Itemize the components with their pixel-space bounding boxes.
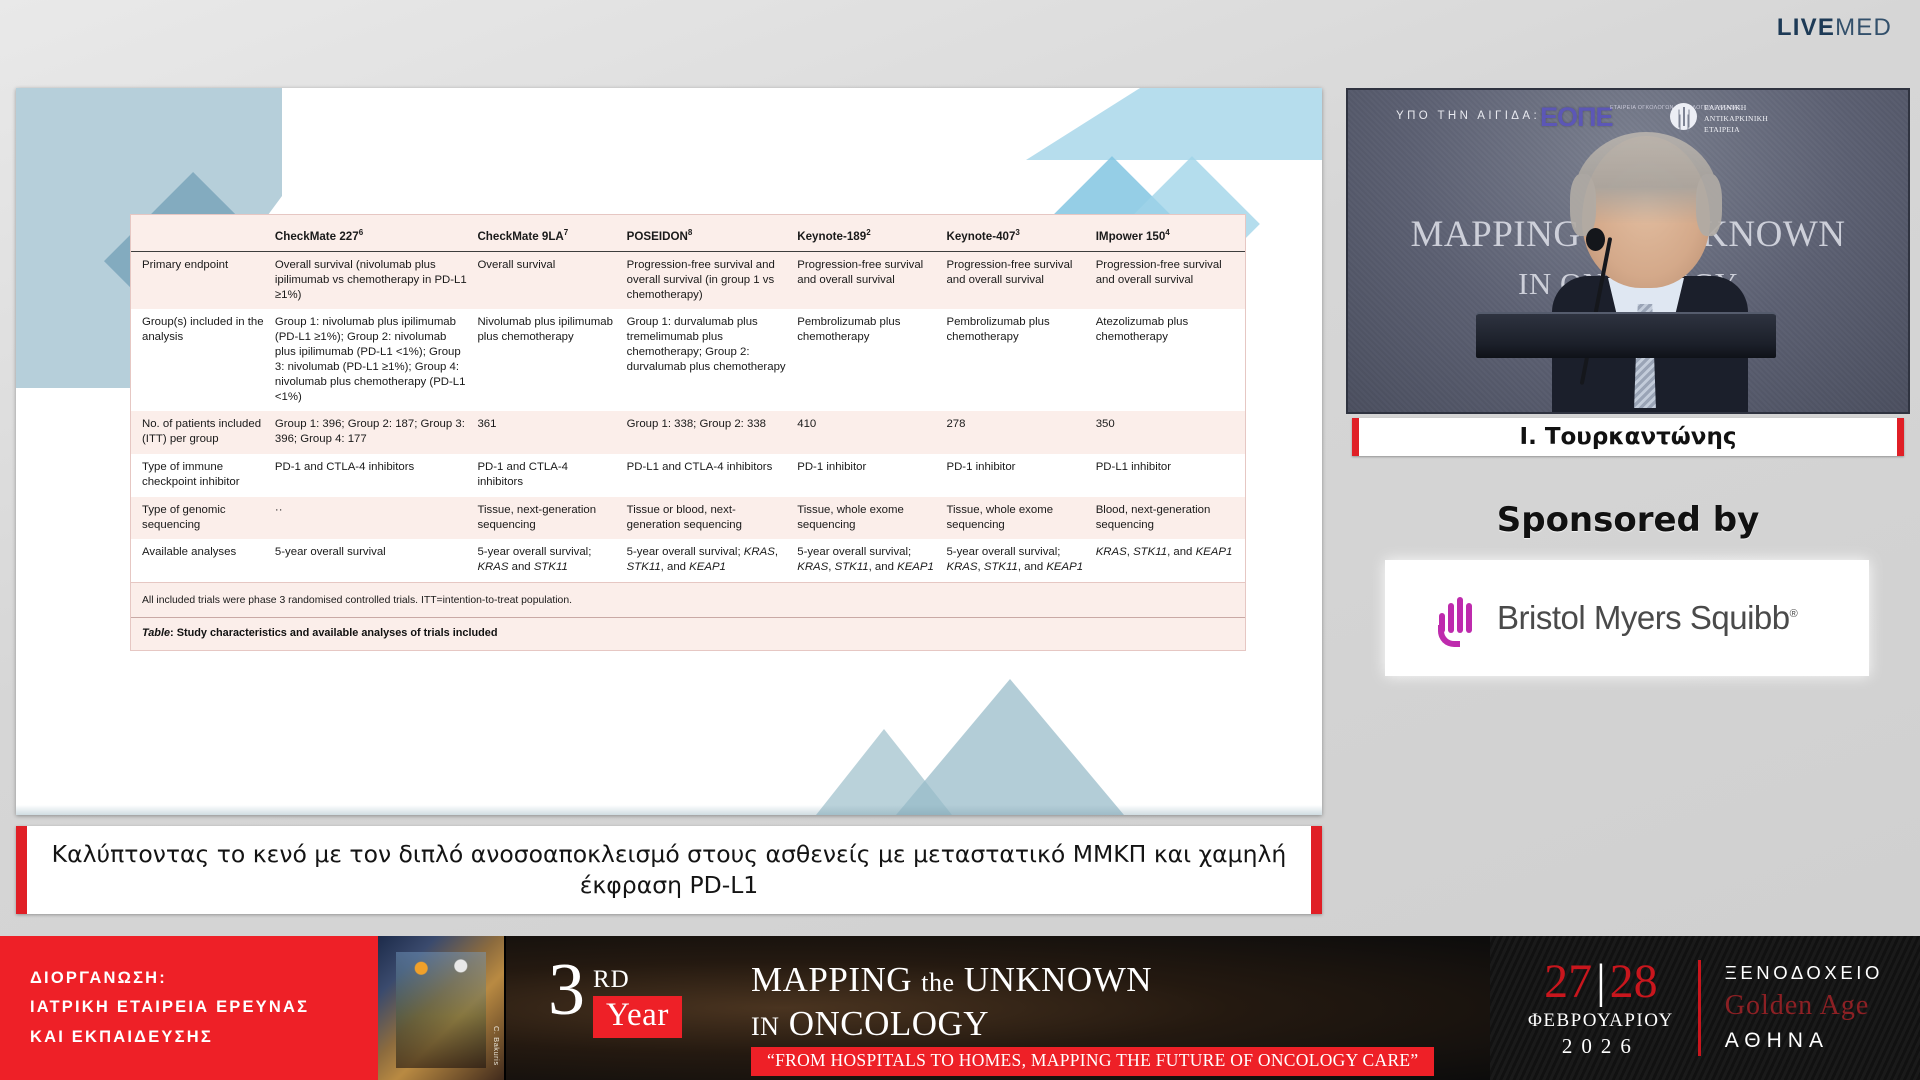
cell: PD-1 and CTLA-4 inhibitors <box>275 454 478 497</box>
title-seg-c: UNKNOWN <box>955 960 1152 999</box>
edition-block: 3 RD Year <box>548 956 682 1038</box>
trademark-symbol: ® <box>1790 608 1798 620</box>
cell: Pembrolizumab plus chemotherapy <box>797 309 946 411</box>
speaker-figure <box>1534 136 1764 414</box>
cell: 5-year overall survival; KRAS, STK11, an… <box>797 539 946 582</box>
row-label: Type of genomic sequencing <box>131 497 275 540</box>
tree-seal-icon <box>1670 103 1697 130</box>
caption-text: Καλύπτοντας το κενό με τον διπλό ανοσοαπ… <box>45 839 1293 901</box>
cell: PD-1 inhibitor <box>797 454 946 497</box>
cell: 5-year overall survival; KRAS, STK11, an… <box>627 539 798 582</box>
cell: Tissue, next-generation sequencing <box>477 497 626 540</box>
cell: Pembrolizumab plus chemotherapy <box>946 309 1095 411</box>
title-seg-b: the <box>921 968 954 997</box>
cell: PD-1 and CTLA-4 inhibitors <box>477 454 626 497</box>
cell: PD-L1 inhibitor <box>1096 454 1245 497</box>
decorative-mountain-large <box>896 679 1124 815</box>
edition-ordinal: RD <box>593 966 682 994</box>
table-caption-text: : Study characteristics and available an… <box>170 627 497 639</box>
study-characteristics-table: CheckMate 2276 CheckMate 9LA7 POSEIDON8 … <box>130 214 1246 651</box>
event-main-title: MAPPING the UNKNOWN IN ONCOLOGY <box>751 960 1152 1044</box>
day-to: 28 <box>1610 955 1658 1008</box>
speaker-nameplate: Ι. Τουρκαντώνης <box>1352 418 1904 456</box>
caption-line-1: Καλύπτοντας το κενό με τον διπλό ανοσοαπ… <box>52 840 1147 868</box>
row-label: Type of immune checkpoint inhibitor <box>131 454 275 497</box>
cell: ·· <box>275 497 478 540</box>
hellenic-line-1: ΕΛΛΗΝΙΚΗ <box>1704 103 1768 114</box>
edition-ordinal-wrap: RD Year <box>593 966 682 1038</box>
cell: 350 <box>1096 411 1245 454</box>
speaker-hair <box>1574 132 1718 224</box>
decorative-bottom-fade <box>16 805 1322 815</box>
row-label: Primary endpoint <box>131 251 275 309</box>
ref-sup: 2 <box>866 228 870 237</box>
row-label: Group(s) included in the analysis <box>131 309 275 411</box>
ref-sup: 6 <box>359 228 363 237</box>
event-date-venue-block: 27|28 ΦΕΒΡΟΥΑΡΙΟΥ 2026 ΞΕΝΟΔΟΧΕΙΟ Golden… <box>1490 936 1920 1080</box>
venue-name: Golden Age <box>1725 986 1883 1026</box>
livemed-logo-primary: LIVE <box>1777 14 1835 41</box>
event-day-range: 27|28 <box>1528 958 1674 1006</box>
table-header-keynote-407: Keynote-4073 <box>946 215 1095 251</box>
table-row: Available analyses 5-year overall surviv… <box>131 539 1245 582</box>
cell: 5-year overall survival; KRAS and STK11 <box>477 539 626 582</box>
organizer-line-2: ΙΑΤΡΙΚΗ ΕΤΑΙΡΕΙΑ ΕΡΕΥΝΑΣ <box>30 993 378 1022</box>
cell: Nivolumab plus ipilimumab plus chemother… <box>477 309 626 411</box>
event-title-line-1: MAPPING the UNKNOWN <box>751 960 1152 1000</box>
table-row: Type of genomic sequencing ·· Tissue, ne… <box>131 497 1245 540</box>
cell: Group 1: durvalumab plus tremelimumab pl… <box>627 309 798 411</box>
cell: Blood, next-generation sequencing <box>1096 497 1245 540</box>
laptop-screen <box>1476 312 1776 358</box>
cell: 361 <box>477 411 626 454</box>
table-caption: Table: Study characteristics and availab… <box>131 617 1245 650</box>
event-month: ΦΕΒΡΟΥΑΡΙΟΥ <box>1528 1010 1674 1032</box>
bms-palm-shape <box>1438 625 1460 647</box>
table-header-checkmate-9la: CheckMate 9LA7 <box>477 215 626 251</box>
table-element: CheckMate 2276 CheckMate 9LA7 POSEIDON8 … <box>131 215 1245 582</box>
table-row: Group(s) included in the analysis Group … <box>131 309 1245 411</box>
slide-title-caption: Καλύπτοντας το κενό με τον διπλό ανοσοαπ… <box>16 826 1322 914</box>
cell: Progression-free survival and overall su… <box>1096 251 1245 309</box>
cell: Group 1: nivolumab plus ipilimumab (PD-L… <box>275 309 478 411</box>
event-title-block: 3 RD Year MAPPING the UNKNOWN IN ONCOLOG… <box>506 936 1490 1080</box>
decorative-mountain-small <box>816 729 952 815</box>
cell: PD-1 inhibitor <box>946 454 1095 497</box>
cell: Progression-free survival and overall su… <box>627 251 798 309</box>
cell: Overall survival <box>477 251 626 309</box>
cell: 410 <box>797 411 946 454</box>
cell: Progression-free survival and overall su… <box>946 251 1095 309</box>
sponsor-name: Bristol Myers Squibb <box>1497 599 1790 636</box>
event-title-line-2: IN ONCOLOGY <box>751 1004 1152 1044</box>
cell: Atezolizumab plus chemotherapy <box>1096 309 1245 411</box>
presentation-slide[interactable]: CheckMate 2276 CheckMate 9LA7 POSEIDON8 … <box>16 88 1322 815</box>
artwork-credit: C. Bakuris <box>492 1026 501 1066</box>
ref-sup: 3 <box>1015 228 1019 237</box>
livemed-logo: LIVEMED <box>1777 14 1892 42</box>
table-head: CheckMate 2276 CheckMate 9LA7 POSEIDON8 … <box>131 215 1245 251</box>
cell: PD-L1 and CTLA-4 inhibitors <box>627 454 798 497</box>
table-body: Primary endpoint Overall survival (nivol… <box>131 251 1245 582</box>
ref-sup: 8 <box>688 228 692 237</box>
hellenic-line-2: ΑΝΤΙΚΑΡΚΙΝΙΚΗ <box>1704 114 1768 125</box>
event-tagline: “FROM HOSPITALS TO HOMES, MAPPING THE FU… <box>751 1047 1434 1076</box>
cell: Group 1: 338; Group 2: 338 <box>627 411 798 454</box>
venue-city: ΑΘΗΝΑ <box>1725 1026 1883 1056</box>
row-label: No. of patients included (ITT) per group <box>131 411 275 454</box>
ref-sup: 4 <box>1165 228 1169 237</box>
table-header-checkmate-227: CheckMate 2276 <box>275 215 478 251</box>
cell: Tissue, whole exome sequencing <box>797 497 946 540</box>
hellenic-logo-text: ΕΛΛΗΝΙΚΗ ΑΝΤΙΚΑΡΚΙΝΙΚΗ ΕΤΑΙΡΕΙΑ <box>1704 103 1768 135</box>
event-dates: 27|28 ΦΕΒΡΟΥΑΡΙΟΥ 2026 <box>1528 958 1674 1059</box>
hellenic-cancer-society-logo: ΕΛΛΗΝΙΚΗ ΑΝΤΙΚΑΡΚΙΝΙΚΗ ΕΤΑΙΡΕΙΑ <box>1670 103 1768 135</box>
row-label: Available analyses <box>131 539 275 582</box>
sponsor-logo-card: Bristol Myers Squibb® <box>1385 560 1869 676</box>
cell: Group 1: 396; Group 2: 187; Group 3: 396… <box>275 411 478 454</box>
table-header-poseidon: POSEIDON8 <box>627 215 798 251</box>
day-separator: | <box>1592 955 1610 1008</box>
cell: KRAS, STK11, and KEAP1 <box>1096 539 1245 582</box>
event-banner: ΔΙΟΡΓΑΝΩΣΗ: ΙΑΤΡΙΚΗ ΕΤΑΙΡΕΙΑ ΕΡΕΥΝΑΣ ΚΑΙ… <box>0 936 1920 1080</box>
sponsored-by-heading: Sponsored by <box>1346 500 1910 540</box>
cell: Tissue, whole exome sequencing <box>946 497 1095 540</box>
table-footnote: All included trials were phase 3 randomi… <box>131 582 1245 617</box>
title-seg-e: ONCOLOGY <box>779 1004 989 1043</box>
eope-logo-icon: ΕΟΠΕ <box>1540 102 1613 133</box>
cell: 278 <box>946 411 1095 454</box>
cell: Tissue or blood, next-generation sequenc… <box>627 497 798 540</box>
edition-year-badge: Year <box>593 996 682 1038</box>
table-row: Primary endpoint Overall survival (nivol… <box>131 251 1245 309</box>
cell: Overall survival (nivolumab plus ipilimu… <box>275 251 478 309</box>
speaker-video-player[interactable]: ΥΠΟ ΤΗΝ ΑΙΓΙΔΑ: ΕΟΠΕ ΕΤΑΙΡΕΙΑ ΟΓΚΟΛΟΓΩΝ … <box>1346 88 1910 414</box>
sponsor-name-wrap: Bristol Myers Squibb® <box>1497 599 1797 637</box>
table-row: Type of immune checkpoint inhibitor PD-1… <box>131 454 1245 497</box>
event-year: 2026 <box>1528 1034 1674 1059</box>
organizer-line-3: ΚΑΙ ΕΚΠΑΙΔΕΥΣΗΣ <box>30 1023 378 1052</box>
day-from: 27 <box>1544 955 1592 1008</box>
organizer-block: ΔΙΟΡΓΑΝΩΣΗ: ΙΑΤΡΙΚΗ ΕΤΑΙΡΕΙΑ ΕΡΕΥΝΑΣ ΚΑΙ… <box>0 936 378 1080</box>
ref-sup: 7 <box>564 228 568 237</box>
table-row: No. of patients included (ITT) per group… <box>131 411 1245 454</box>
livemed-logo-secondary: MED <box>1835 14 1892 41</box>
event-artwork: C. Bakuris <box>378 936 506 1080</box>
table-header-impower-150: IMpower 1504 <box>1096 215 1245 251</box>
edition-number: 3 <box>548 956 585 1024</box>
event-venue: ΞΕΝΟΔΟΧΕΙΟ Golden Age ΑΘΗΝΑ <box>1725 960 1883 1056</box>
organizer-line-1: ΔΙΟΡΓΑΝΩΣΗ: <box>30 964 378 993</box>
cell: 5-year overall survival <box>275 539 478 582</box>
title-seg-d: IN <box>751 1012 779 1041</box>
cell: Progression-free survival and overall su… <box>797 251 946 309</box>
table-caption-lead: Table <box>142 627 170 639</box>
title-seg-a: MAPPING <box>751 960 921 999</box>
decorative-shape-top-right <box>1026 88 1322 160</box>
speaker-name: Ι. Τουρκαντώνης <box>1520 424 1737 450</box>
screen-root: LIVEMED CheckMate 2276 CheckMate 9LA7 <box>0 0 1920 1080</box>
venue-label: ΞΕΝΟΔΟΧΕΙΟ <box>1725 960 1883 986</box>
hellenic-line-3: ΕΤΑΙΡΕΙΑ <box>1704 125 1768 136</box>
aegis-label: ΥΠΟ ΤΗΝ ΑΙΓΙΔΑ: <box>1396 110 1540 122</box>
microphone-icon <box>1586 228 1605 251</box>
table-header-row: CheckMate 2276 CheckMate 9LA7 POSEIDON8 … <box>131 215 1245 251</box>
table-header-blank <box>131 215 275 251</box>
vertical-divider <box>1698 960 1701 1056</box>
cell: 5-year overall survival; KRAS, STK11, an… <box>946 539 1095 582</box>
bms-hand-icon <box>1437 593 1479 643</box>
table-header-keynote-189: Keynote-1892 <box>797 215 946 251</box>
